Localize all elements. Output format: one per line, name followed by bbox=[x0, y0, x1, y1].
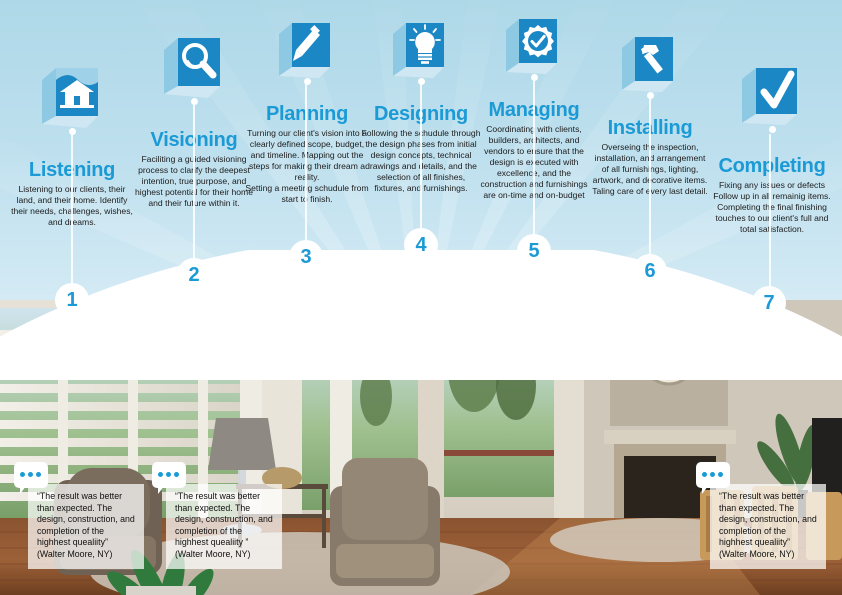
pencil-icon bbox=[274, 16, 340, 82]
step-3-stem bbox=[305, 82, 307, 254]
step-4-stem bbox=[420, 82, 422, 240]
step-7-title: Completing bbox=[706, 156, 838, 176]
step-7-number: 7 bbox=[752, 286, 786, 320]
title-textpath: JMD PROVEN PROCESS bbox=[0, 255, 687, 365]
house-icon bbox=[36, 60, 108, 132]
checkmark-icon bbox=[737, 60, 807, 130]
step-7-stem bbox=[769, 134, 771, 294]
bubble-dots bbox=[20, 472, 41, 477]
testimonial-1-quote: “The result was better than expected. Th… bbox=[37, 491, 135, 549]
step-5-number: 5 bbox=[517, 234, 551, 268]
step-2-number: 2 bbox=[177, 258, 211, 292]
step-1-number: 1 bbox=[55, 283, 89, 317]
step-1-stem bbox=[71, 132, 73, 292]
step-3-planning[interactable]: Planning Turning our client's vision int… bbox=[243, 16, 371, 205]
step-5-stem bbox=[533, 78, 535, 244]
bubble-dots bbox=[702, 472, 723, 477]
stem-dot bbox=[769, 126, 776, 133]
step-6-stem bbox=[649, 96, 651, 256]
testimonial-2-quote: “The result was better than expected. Th… bbox=[175, 491, 273, 549]
step-3-title: Planning bbox=[243, 104, 371, 124]
testimonial-1-attribution: (Walter Moore, NY) bbox=[37, 549, 135, 561]
page-title-text: JMD PROVEN PROCESS bbox=[0, 255, 687, 365]
step-6-number: 6 bbox=[633, 254, 667, 288]
bubble-dots bbox=[158, 472, 179, 477]
testimonial-3-quote: “The result was better than expected. Th… bbox=[719, 491, 817, 549]
step-7-completing[interactable]: Completing Fixing any issues or defects … bbox=[706, 60, 838, 235]
hammer-icon bbox=[617, 30, 683, 96]
lightbulb-icon bbox=[388, 16, 454, 82]
magnifier-icon bbox=[158, 30, 230, 102]
page-title: JMD PROVEN PROCESS bbox=[0, 255, 842, 365]
testimonial-2-card: “The result was better than expected. Th… bbox=[166, 484, 282, 569]
infographic-canvas: JMD PROVEN PROCESS Listening Listen bbox=[0, 0, 842, 595]
testimonial-3-card: “The result was better than expected. Th… bbox=[710, 484, 826, 569]
step-3-body: Turning our client's vision into a clear… bbox=[243, 128, 371, 205]
step-3-number: 3 bbox=[289, 240, 323, 274]
testimonial-2-attribution: (Walter Moore, NY) bbox=[175, 549, 273, 561]
badge-check-icon bbox=[501, 12, 567, 78]
step-4-number: 4 bbox=[404, 228, 438, 262]
testimonial-3-attribution: (Walter Moore, NY) bbox=[719, 549, 817, 561]
step-2-stem bbox=[193, 102, 195, 270]
step-7-body: Fixing any issues or defects Follow up i… bbox=[706, 180, 838, 235]
testimonial-1-card: “The result was better than expected. Th… bbox=[28, 484, 144, 569]
